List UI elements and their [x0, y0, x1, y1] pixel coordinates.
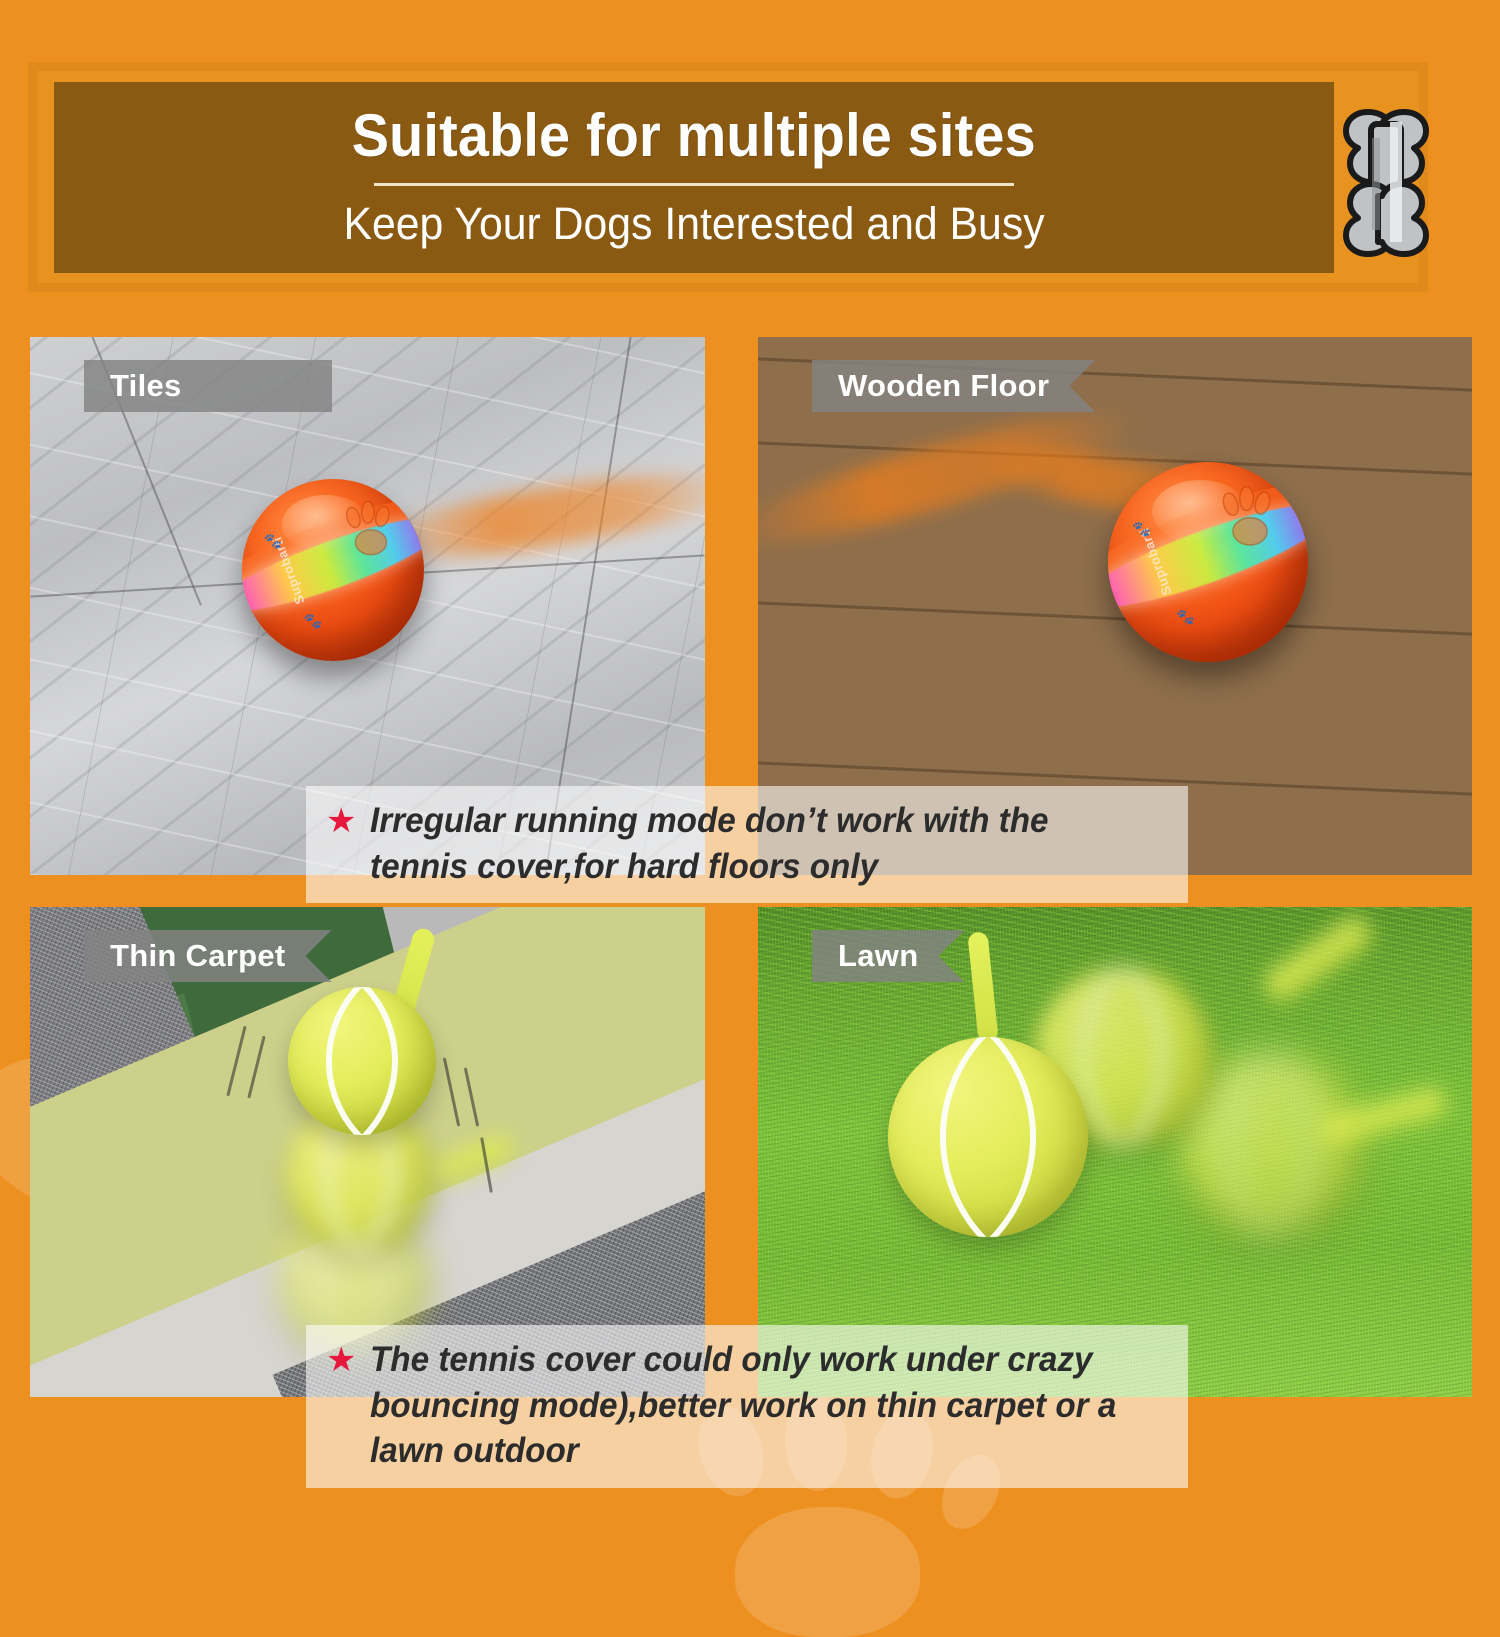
site-label-text: Tiles [110, 368, 182, 404]
site-label-thin-carpet: Thin Carpet [84, 930, 332, 982]
caption-tennis-cover: ★ The tennis cover could only work under… [306, 1325, 1188, 1488]
panel-thin-carpet: Thin Carpet [30, 907, 705, 1397]
page-subtitle: Keep Your Dogs Interested and Busy [343, 198, 1044, 250]
title-divider [374, 183, 1014, 186]
star-bullet-icon: ★ [326, 804, 356, 838]
site-label-wooden-floor: Wooden Floor [812, 360, 1095, 412]
star-bullet-icon: ★ [326, 1343, 356, 1377]
orange-led-ball: Suprobarti 🐾 🐾 [242, 479, 424, 661]
page-title: Suitable for multiple sites [352, 105, 1036, 166]
site-label-text: Wooden Floor [838, 368, 1049, 404]
panel-lawn: Lawn [758, 907, 1472, 1397]
tennis-ball [288, 987, 436, 1135]
site-label-tiles: Tiles [84, 360, 332, 412]
paw-print-emboss [340, 501, 402, 563]
caption-hard-floors: ★ Irregular running mode don’t work with… [306, 786, 1188, 903]
caption-text: Irregular running mode don’t work with t… [370, 798, 1122, 889]
header-banner: Suitable for multiple sites Keep Your Do… [28, 62, 1428, 292]
caption-text: The tennis cover could only work under c… [370, 1337, 1122, 1474]
site-label-text: Lawn [838, 938, 918, 974]
paw-print-emboss [1216, 486, 1284, 554]
tennis-ball [888, 1037, 1088, 1237]
bone-icon [1338, 78, 1434, 288]
header-inner-box: Suitable for multiple sites Keep Your Do… [54, 82, 1334, 273]
site-label-text: Thin Carpet [110, 938, 286, 974]
orange-led-ball: Suprobarti 🐾 🐾 [1108, 462, 1308, 662]
